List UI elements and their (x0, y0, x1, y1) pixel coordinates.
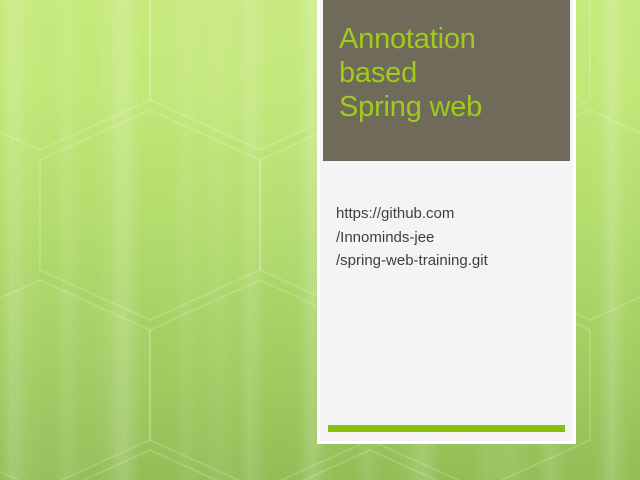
title-card-header: Annotation based Spring web (323, 0, 570, 161)
repository-url-line-1: https://github.com (320, 202, 573, 226)
repository-url-line-2: /Innominds-jee (320, 226, 573, 250)
title-card-body: https://github.com /Innominds-jee /sprin… (320, 166, 573, 441)
repository-url-line-3: /spring-web-training.git (320, 249, 573, 273)
slide-canvas: Annotation based Spring web https://gith… (0, 0, 640, 480)
page-title: Annotation based Spring web (339, 22, 562, 124)
accent-bar (328, 425, 565, 432)
title-card: Annotation based Spring web https://gith… (320, 0, 573, 441)
